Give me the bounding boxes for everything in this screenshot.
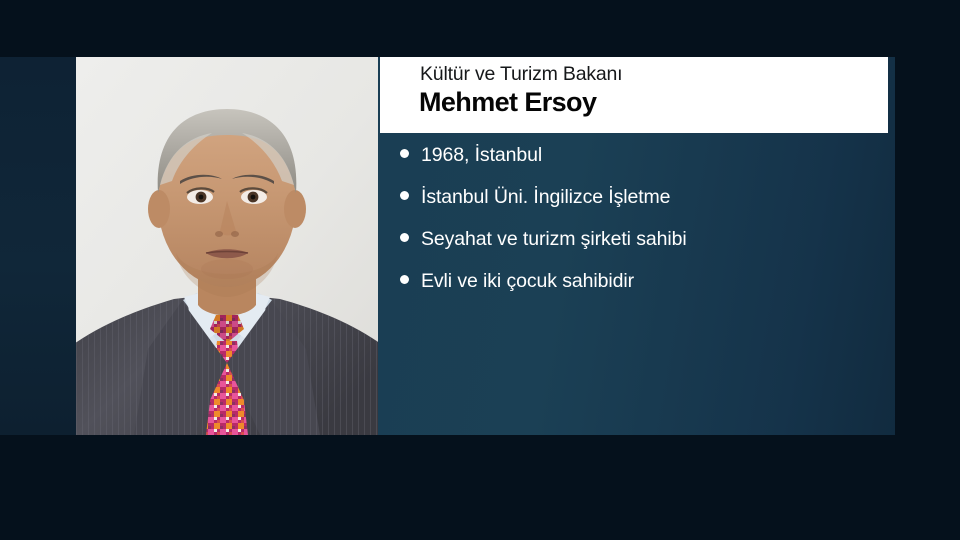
list-item: 1968, İstanbul [400, 141, 870, 169]
letterbox-top [0, 0, 960, 57]
person-name: Mehmet Ersoy [419, 87, 596, 118]
fact-text: İstanbul Üni. İngilizce İşletme [421, 183, 751, 211]
dot-bullet-icon [400, 149, 409, 158]
fact-text: Evli ve iki çocuk sahibidir [421, 267, 751, 295]
list-item: Seyahat ve turizm şirketi sahibi [400, 225, 870, 253]
fact-text: 1968, İstanbul [421, 141, 721, 169]
dot-bullet-icon [400, 233, 409, 242]
list-item: İstanbul Üni. İngilizce İşletme [400, 183, 870, 211]
letterbox-bottom [0, 435, 960, 540]
facts-list: 1968, İstanbul İstanbul Üni. İngilizce İ… [400, 141, 870, 309]
dot-bullet-icon [400, 275, 409, 284]
fact-text: Seyahat ve turizm şirketi sahibi [421, 225, 721, 253]
portrait-photo [76, 57, 378, 435]
lower-third-graphic: Kültür ve Turizm Bakanı Mehmet Ersoy 196… [0, 0, 960, 540]
list-item: Evli ve iki çocuk sahibidir [400, 267, 870, 295]
card-left-strip [0, 57, 76, 435]
dot-bullet-icon [400, 191, 409, 200]
name-header-bar: Kültür ve Turizm Bakanı Mehmet Ersoy [380, 57, 888, 133]
role-title: Kültür ve Turizm Bakanı [420, 63, 622, 86]
